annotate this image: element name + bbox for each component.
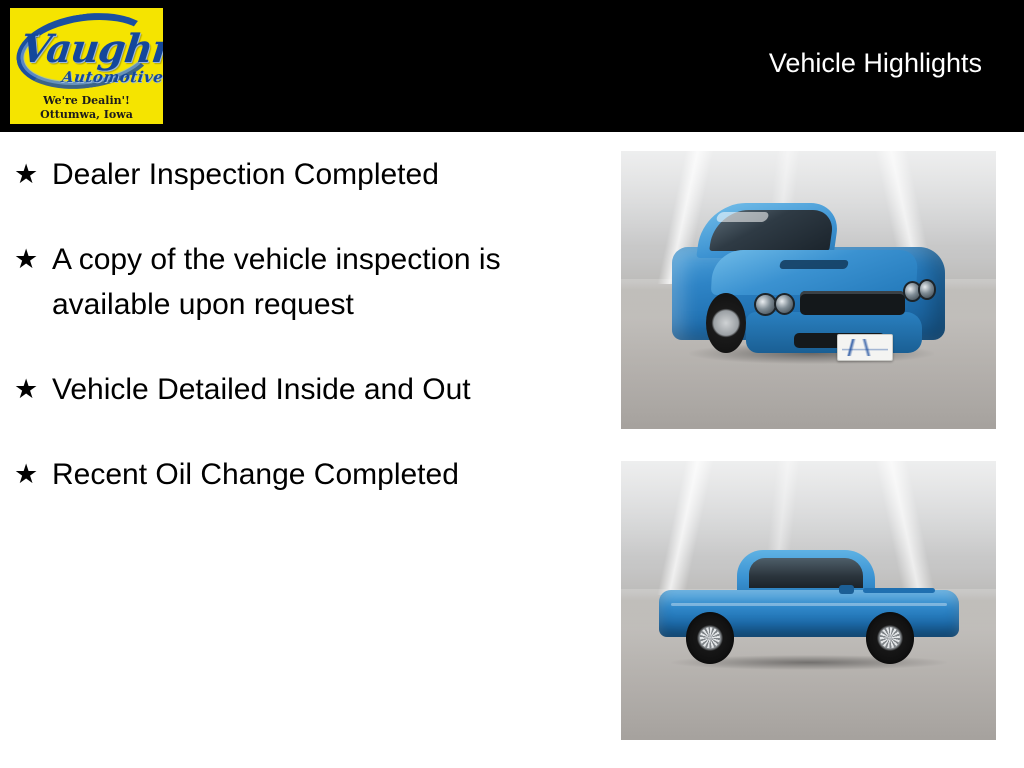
car-front-wheel [686, 612, 734, 663]
slide-header: Vaughn Automotive We're Dealin'! Ottumwa… [0, 0, 1024, 132]
car-front-wheel-rim [699, 627, 719, 649]
dealer-logo: Vaughn Automotive We're Dealin'! Ottumwa… [10, 8, 163, 124]
car-beltline [671, 603, 947, 606]
car-grille [800, 291, 905, 315]
highlights-list: ★ Dealer Inspection Completed ★ A copy o… [14, 152, 594, 497]
list-item: ★ Vehicle Detailed Inside and Out [14, 367, 594, 412]
logo-tagline-line-2: Ottumwa, Iowa [10, 108, 163, 122]
car-windshield-glare [715, 212, 770, 222]
star-icon: ★ [14, 152, 52, 197]
page-title: Vehicle Highlights [769, 48, 982, 79]
vehicle-photo-side-profile [621, 461, 996, 740]
car-side-windows [749, 558, 863, 588]
car-hood [710, 250, 918, 295]
star-icon: ★ [14, 237, 52, 282]
car-front-wheel [706, 293, 746, 353]
star-icon: ★ [14, 452, 52, 497]
list-item-label: Vehicle Detailed Inside and Out [52, 367, 594, 412]
car-rear-spoiler [863, 588, 935, 594]
car-rear-wheel-rim [879, 627, 899, 649]
vehicle-photo-front-three-quarter [621, 151, 996, 429]
list-item: ★ Dealer Inspection Completed [14, 152, 594, 197]
dealer-plate-script [842, 339, 887, 356]
list-item-label: Dealer Inspection Completed [52, 152, 594, 197]
slide-content: ★ Dealer Inspection Completed ★ A copy o… [0, 132, 1024, 768]
car-rear-wheel [866, 612, 914, 663]
star-icon: ★ [14, 367, 52, 412]
list-item-label: A copy of the vehicle inspection is avai… [52, 237, 594, 327]
car-headlight-outer-right [918, 279, 936, 299]
car-front-three-quarter [666, 198, 951, 370]
logo-wordmark: Vaughn [19, 30, 156, 69]
dealer-license-plate [837, 334, 893, 360]
car-side-profile [659, 547, 959, 659]
list-item: ★ Recent Oil Change Completed [14, 452, 594, 497]
list-item: ★ A copy of the vehicle inspection is av… [14, 237, 594, 327]
logo-tagline-line-1: We're Dealin'! [10, 94, 163, 108]
logo-subtitle: Automotive [61, 68, 163, 86]
car-side-mirror [839, 585, 854, 594]
logo-tagline: We're Dealin'! Ottumwa, Iowa [10, 94, 163, 122]
car-hood-scoop [779, 260, 850, 269]
list-item-label: Recent Oil Change Completed [52, 452, 594, 497]
